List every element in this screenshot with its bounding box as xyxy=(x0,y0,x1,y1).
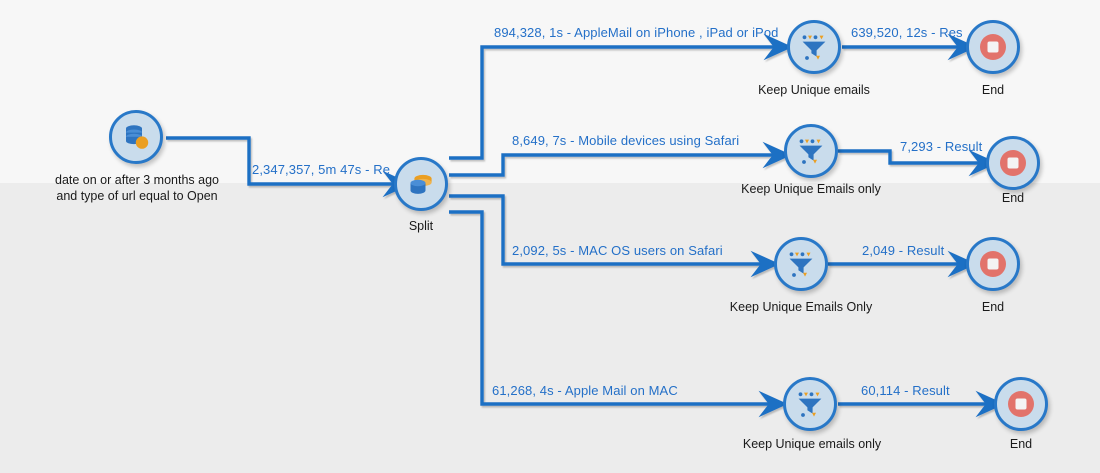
database-orange-dot-icon xyxy=(121,122,151,152)
edge-split-filter2-label: 8,649, 7s - Mobile devices using Safari xyxy=(512,133,739,148)
node-end4[interactable] xyxy=(994,377,1048,431)
node-filter1[interactable] xyxy=(787,20,841,74)
funnel-filter-icon xyxy=(799,32,829,62)
node-end3[interactable] xyxy=(966,237,1020,291)
funnel-filter-icon xyxy=(796,136,826,166)
workflow-canvas[interactable]: date on or after 3 months ago and type o… xyxy=(0,0,1100,473)
edge-filter1-end1-label: 639,520, 12s - Res xyxy=(851,25,963,40)
edge-filter2-end2-label: 7,293 - Result xyxy=(900,139,982,154)
node-filter3[interactable] xyxy=(774,237,828,291)
edge-filter3-end3-label: 2,049 - Result xyxy=(862,243,944,258)
edge-split-filter1-label-clip: 894,328, 1s - AppleMail on iPhone , iPad… xyxy=(494,25,781,47)
edge-split-filter4 xyxy=(449,212,783,404)
funnel-filter-icon xyxy=(795,389,825,419)
node-start[interactable] xyxy=(109,110,163,164)
edge-connectors-layer xyxy=(0,0,1100,473)
node-end1[interactable] xyxy=(966,20,1020,74)
stop-end-icon xyxy=(978,32,1008,62)
edge-split-filter3-label: 2,092, 5s - MAC OS users on Safari xyxy=(512,243,723,258)
edge-filter1-end1-label-clip: 639,520, 12s - Res xyxy=(851,25,971,47)
node-end2[interactable] xyxy=(986,136,1040,190)
edge-filter4-end4-label: 60,114 - Result xyxy=(861,383,950,398)
stop-end-icon xyxy=(1006,389,1036,419)
node-filter2[interactable] xyxy=(784,124,838,178)
edge-split-filter4-label: 61,268, 4s - Apple Mail on MAC xyxy=(492,383,678,398)
stop-end-icon xyxy=(978,249,1008,279)
edge-split-filter2 xyxy=(449,155,787,175)
edge-split-filter1-label: 894,328, 1s - AppleMail on iPhone , iPad… xyxy=(494,25,778,40)
edge-start-split-label-clip: 2,347,357, 5m 47s - Re xyxy=(252,162,410,184)
node-filter4[interactable] xyxy=(783,377,837,431)
funnel-filter-icon xyxy=(786,249,816,279)
edge-filter2-end2-label-clip: 7,293 - Result xyxy=(900,139,992,161)
split-database-icon xyxy=(406,169,436,199)
stop-end-icon xyxy=(998,148,1028,178)
edge-start-split-label: 2,347,357, 5m 47s - Re xyxy=(252,162,390,177)
